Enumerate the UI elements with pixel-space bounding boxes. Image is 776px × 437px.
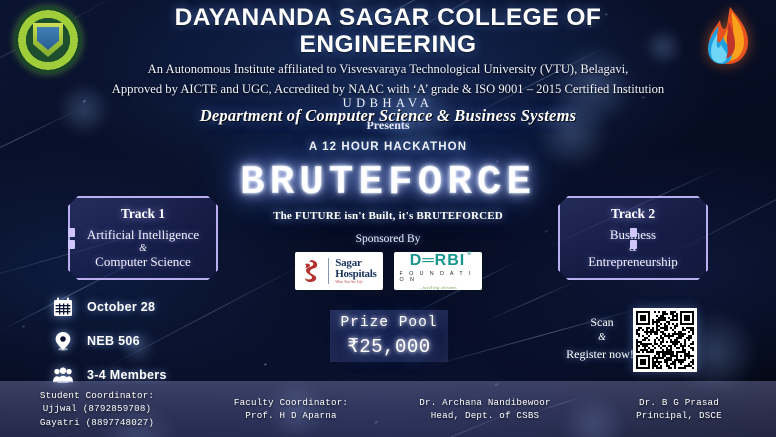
scan-amp: & xyxy=(563,331,641,346)
prize-pool-amount: ₹25,000 xyxy=(347,335,430,358)
scan-register-text: Scan & Register now!! xyxy=(563,314,641,363)
detail-date-label: October 28 xyxy=(87,300,155,314)
footer-0-role: Student Coordinator: xyxy=(0,389,194,402)
dsce-crest-logo-icon xyxy=(14,6,82,74)
track-1-line-2: Computer Science xyxy=(95,254,191,270)
footer-student-coordinator: Student Coordinator: Ujjwal (8792859708)… xyxy=(0,389,194,429)
track-card-2: Track 2 Business & Entrepreneurship xyxy=(558,196,708,280)
event-details-list: October 28 NEB 506 xyxy=(52,296,167,386)
scan-line-1: Scan xyxy=(563,314,641,331)
track-card-1: Track 1 Artificial Intelligence & Comput… xyxy=(68,196,218,280)
accreditation-line-2: Approved by AICTE and UGC, Accredited by… xyxy=(96,81,680,99)
calendar-icon xyxy=(52,296,74,318)
sagar-tagline: What You Are Life xyxy=(335,281,376,285)
qr-code-icon[interactable] xyxy=(633,308,697,372)
college-name: DAYANANDA SAGAR COLLEGE OF ENGINEERING xyxy=(96,4,680,59)
footer-3-role: Dr. B G Prasad xyxy=(582,396,776,409)
udbhava-flame-logo-icon xyxy=(696,4,760,70)
track-1-notch-a xyxy=(68,228,75,237)
poster-footer: Student Coordinator: Ujjwal (8792859708)… xyxy=(0,381,776,437)
accreditation-line-1: An Autonomous Institute affiliated to Vi… xyxy=(96,61,680,79)
footer-0-name2: Gayatri (8897748027) xyxy=(0,416,194,429)
footer-2-role: Dr. Archana Nandibewoor xyxy=(388,396,582,409)
track-1-notch-b xyxy=(68,240,75,249)
derbi-tagline: ...fuelling dreams xyxy=(418,285,457,290)
location-pin-icon xyxy=(52,330,74,352)
track-1-line-1: Artificial Intelligence xyxy=(87,227,199,243)
prize-pool-box: Prize Pool ₹25,000 xyxy=(330,310,448,362)
poster-header: DAYANANDA SAGAR COLLEGE OF ENGINEERING A… xyxy=(0,0,776,96)
detail-row-venue: NEB 506 xyxy=(52,330,167,352)
track-2-notch-a xyxy=(630,228,637,237)
sponsor-sagar-hospitals: Sagar Hospitals What You Are Life xyxy=(295,252,383,290)
derbi-wordmark: D═RBI® xyxy=(410,253,465,269)
scan-line-2: Register now!! xyxy=(563,346,641,363)
detail-row-date: October 28 xyxy=(52,296,167,318)
detail-team-label: 3-4 Members xyxy=(87,368,167,382)
footer-0-name: Ujjwal (8792859708) xyxy=(0,402,194,415)
track-2-notch-b xyxy=(630,240,637,249)
detail-venue-label: NEB 506 xyxy=(87,334,140,348)
footer-hod: Dr. Archana Nandibewoor Head, Dept. of C… xyxy=(388,396,582,423)
track-1-amp: & xyxy=(139,243,147,254)
sagar-hospitals-emblem-icon xyxy=(301,259,321,283)
header-text-block: DAYANANDA SAGAR COLLEGE OF ENGINEERING A… xyxy=(96,4,680,126)
department-name: Department of Computer Science & Busines… xyxy=(96,106,680,126)
derbi-line-1: D═RBI xyxy=(410,252,465,269)
footer-3-name: Principal, DSCE xyxy=(582,409,776,422)
prize-pool-label: Prize Pool xyxy=(340,315,437,331)
footer-faculty-coordinator: Faculty Coordinator: Prof. H D Aparna xyxy=(194,396,388,423)
hackathon-poster: DAYANANDA SAGAR COLLEGE OF ENGINEERING A… xyxy=(0,0,776,437)
derbi-line-2: F O U N D A T I O N xyxy=(400,271,476,283)
event-duration-line: A 12 HOUR HACKATHON xyxy=(0,141,776,153)
sagar-line-2: Hospitals xyxy=(335,269,376,280)
track-2-line-2: Entrepreneurship xyxy=(588,254,678,270)
footer-1-name: Prof. H D Aparna xyxy=(194,409,388,422)
footer-1-role: Faculty Coordinator: xyxy=(194,396,388,409)
track-1-title: Track 1 xyxy=(121,206,165,222)
track-2-title: Track 2 xyxy=(611,206,655,222)
derbi-registered-mark: ® xyxy=(468,252,473,257)
footer-2-name: Head, Dept. of CSBS xyxy=(388,409,582,422)
sponsor-derbi-foundation: D═RBI® F O U N D A T I O N ...fuelling d… xyxy=(394,252,482,290)
footer-principal: Dr. B G Prasad Principal, DSCE xyxy=(582,396,776,423)
